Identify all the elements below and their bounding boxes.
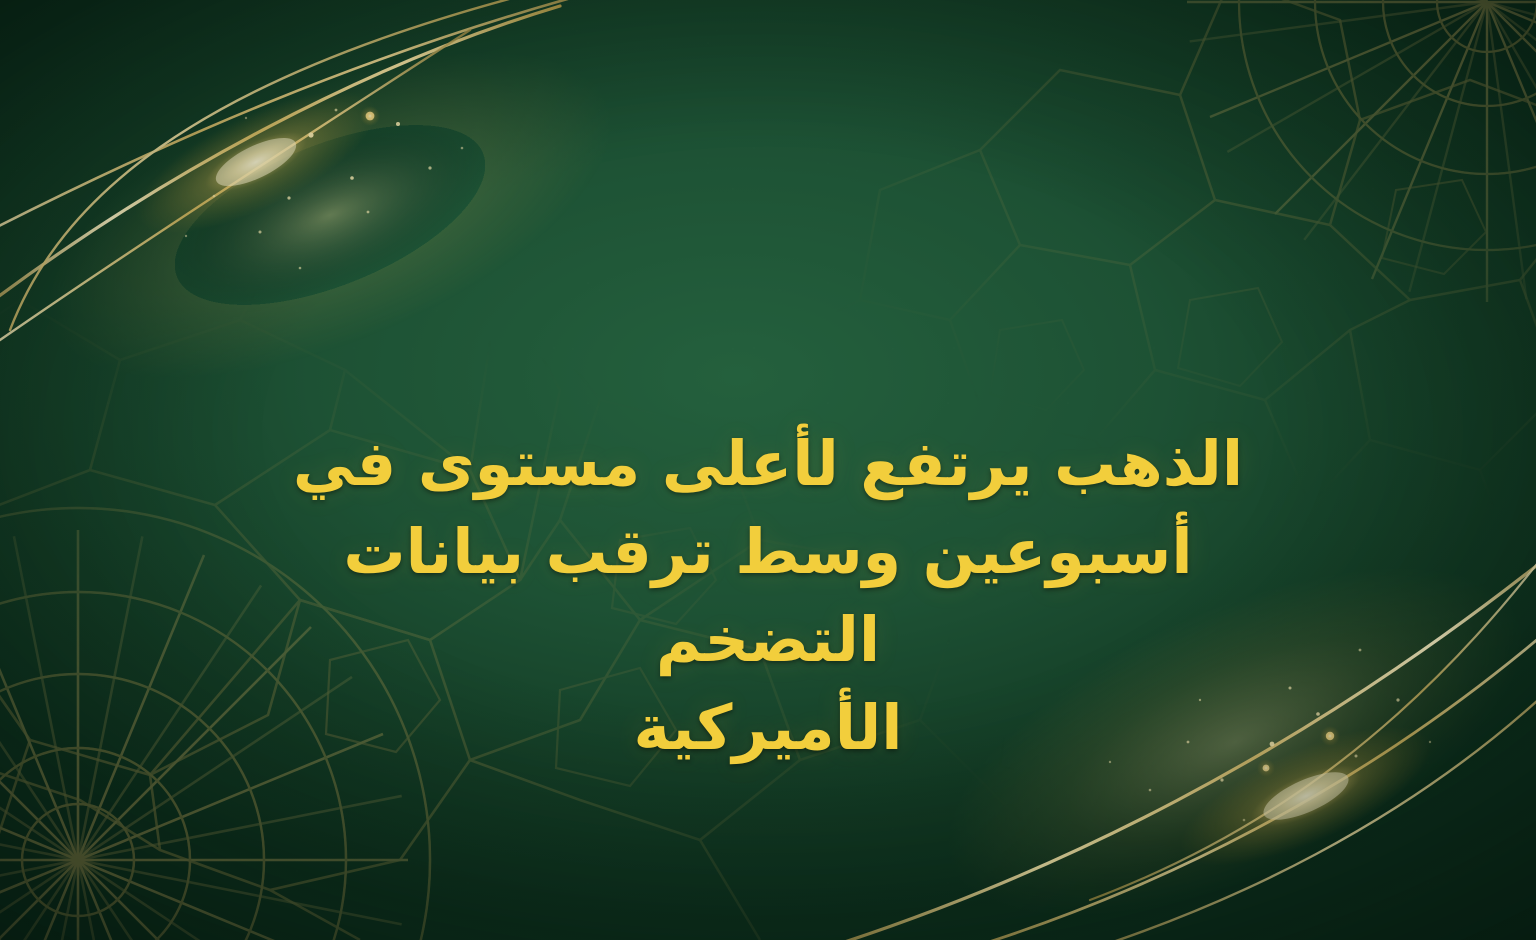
headline-line-1: الذهب يرتفع لأعلى مستوى في — [293, 427, 1243, 500]
headline-line-3: الأميركية — [633, 691, 902, 764]
headline-line-2: أسبوعين وسط ترقب بيانات التضخم — [343, 515, 1192, 676]
page-title: الذهب يرتفع لأعلى مستوى في أسبوعين وسط ت… — [223, 420, 1313, 772]
headline-block: الذهب يرتفع لأعلى مستوى في أسبوعين وسط ت… — [0, 378, 1536, 813]
headline-card: الذهب يرتفع لأعلى مستوى في أسبوعين وسط ت… — [0, 0, 1536, 940]
